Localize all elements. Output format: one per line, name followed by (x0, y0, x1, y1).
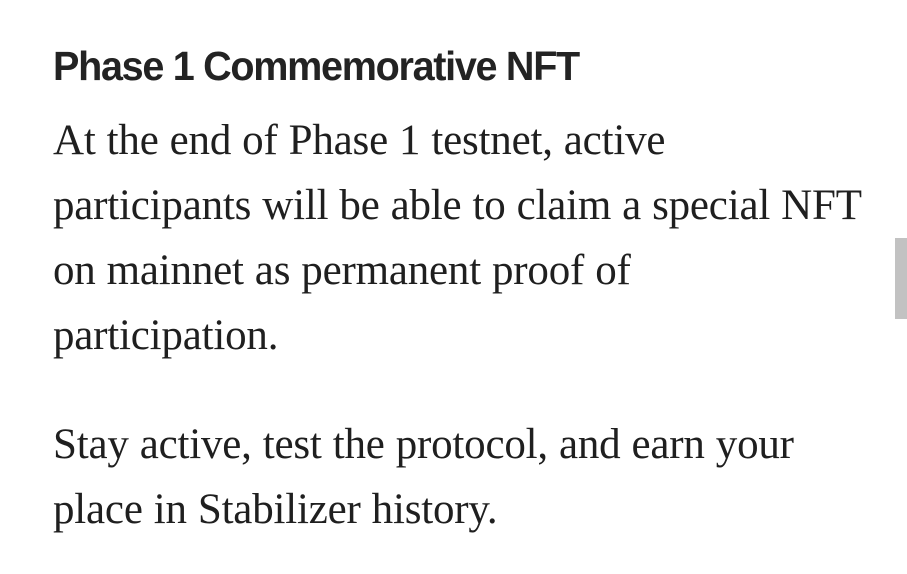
page-title: Phase 1 Commemorative NFT (53, 41, 579, 91)
page-root: Phase 1 Commemorative NFT At the end of … (0, 0, 907, 574)
article-body: At the end of Phase 1 testnet, active pa… (53, 108, 863, 542)
body-paragraph-1: At the end of Phase 1 testnet, active pa… (53, 108, 863, 368)
vertical-scrollbar-track[interactable] (895, 0, 907, 574)
vertical-scrollbar-thumb[interactable] (895, 238, 907, 319)
body-paragraph-2: Stay active, test the protocol, and earn… (53, 412, 863, 542)
